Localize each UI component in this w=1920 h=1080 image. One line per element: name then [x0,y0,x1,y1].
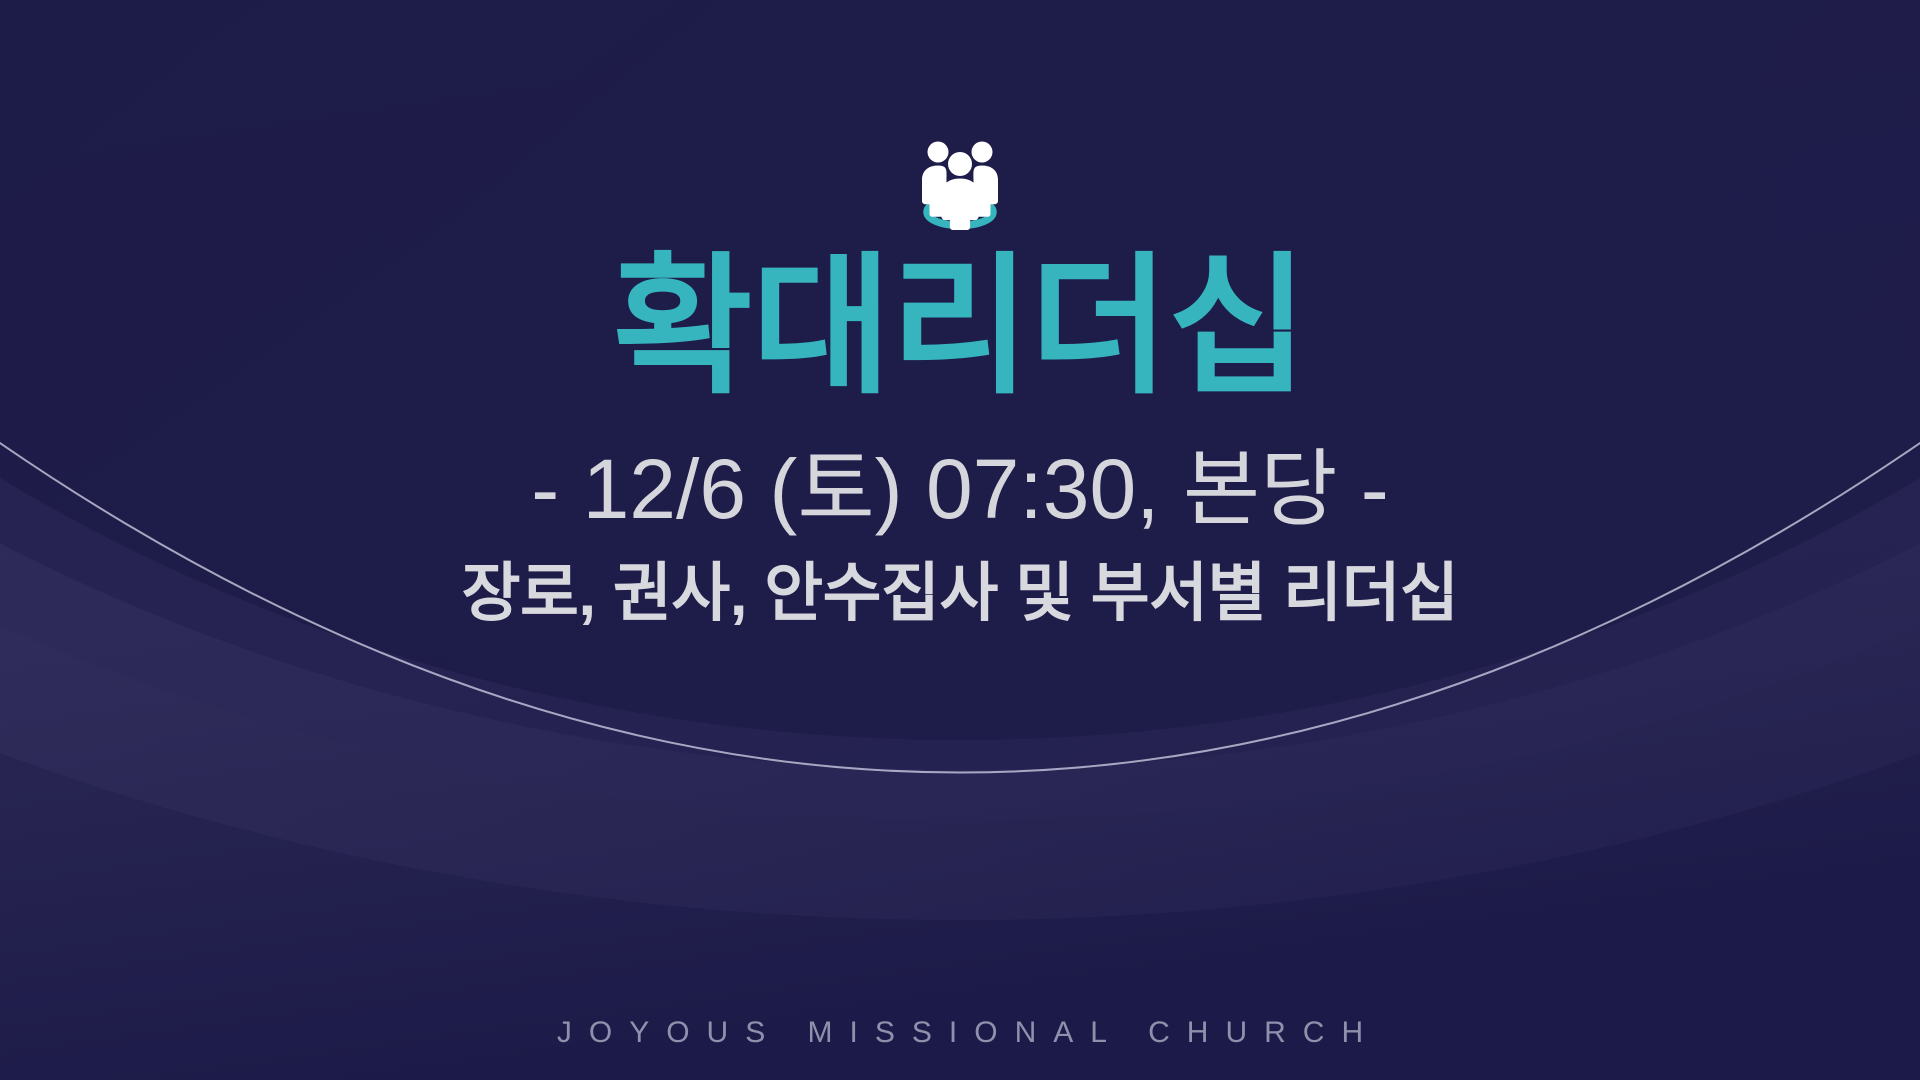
announcement-slide: 확대리더십 - 12/6 (토) 07:30, 본당 - 장로, 권사, 안수집… [0,0,1920,1080]
event-audience-line: 장로, 권사, 안수집사 및 부서별 리더십 [462,561,1459,625]
event-schedule-line: - 12/6 (토) 07:30, 본당 - [531,447,1388,531]
slide-content: 확대리더십 - 12/6 (토) 07:30, 본당 - 장로, 권사, 안수집… [0,0,1920,1080]
icon-person-center [941,152,978,230]
page-title: 확대리더십 [613,250,1307,405]
people-group-icon [905,128,1015,232]
